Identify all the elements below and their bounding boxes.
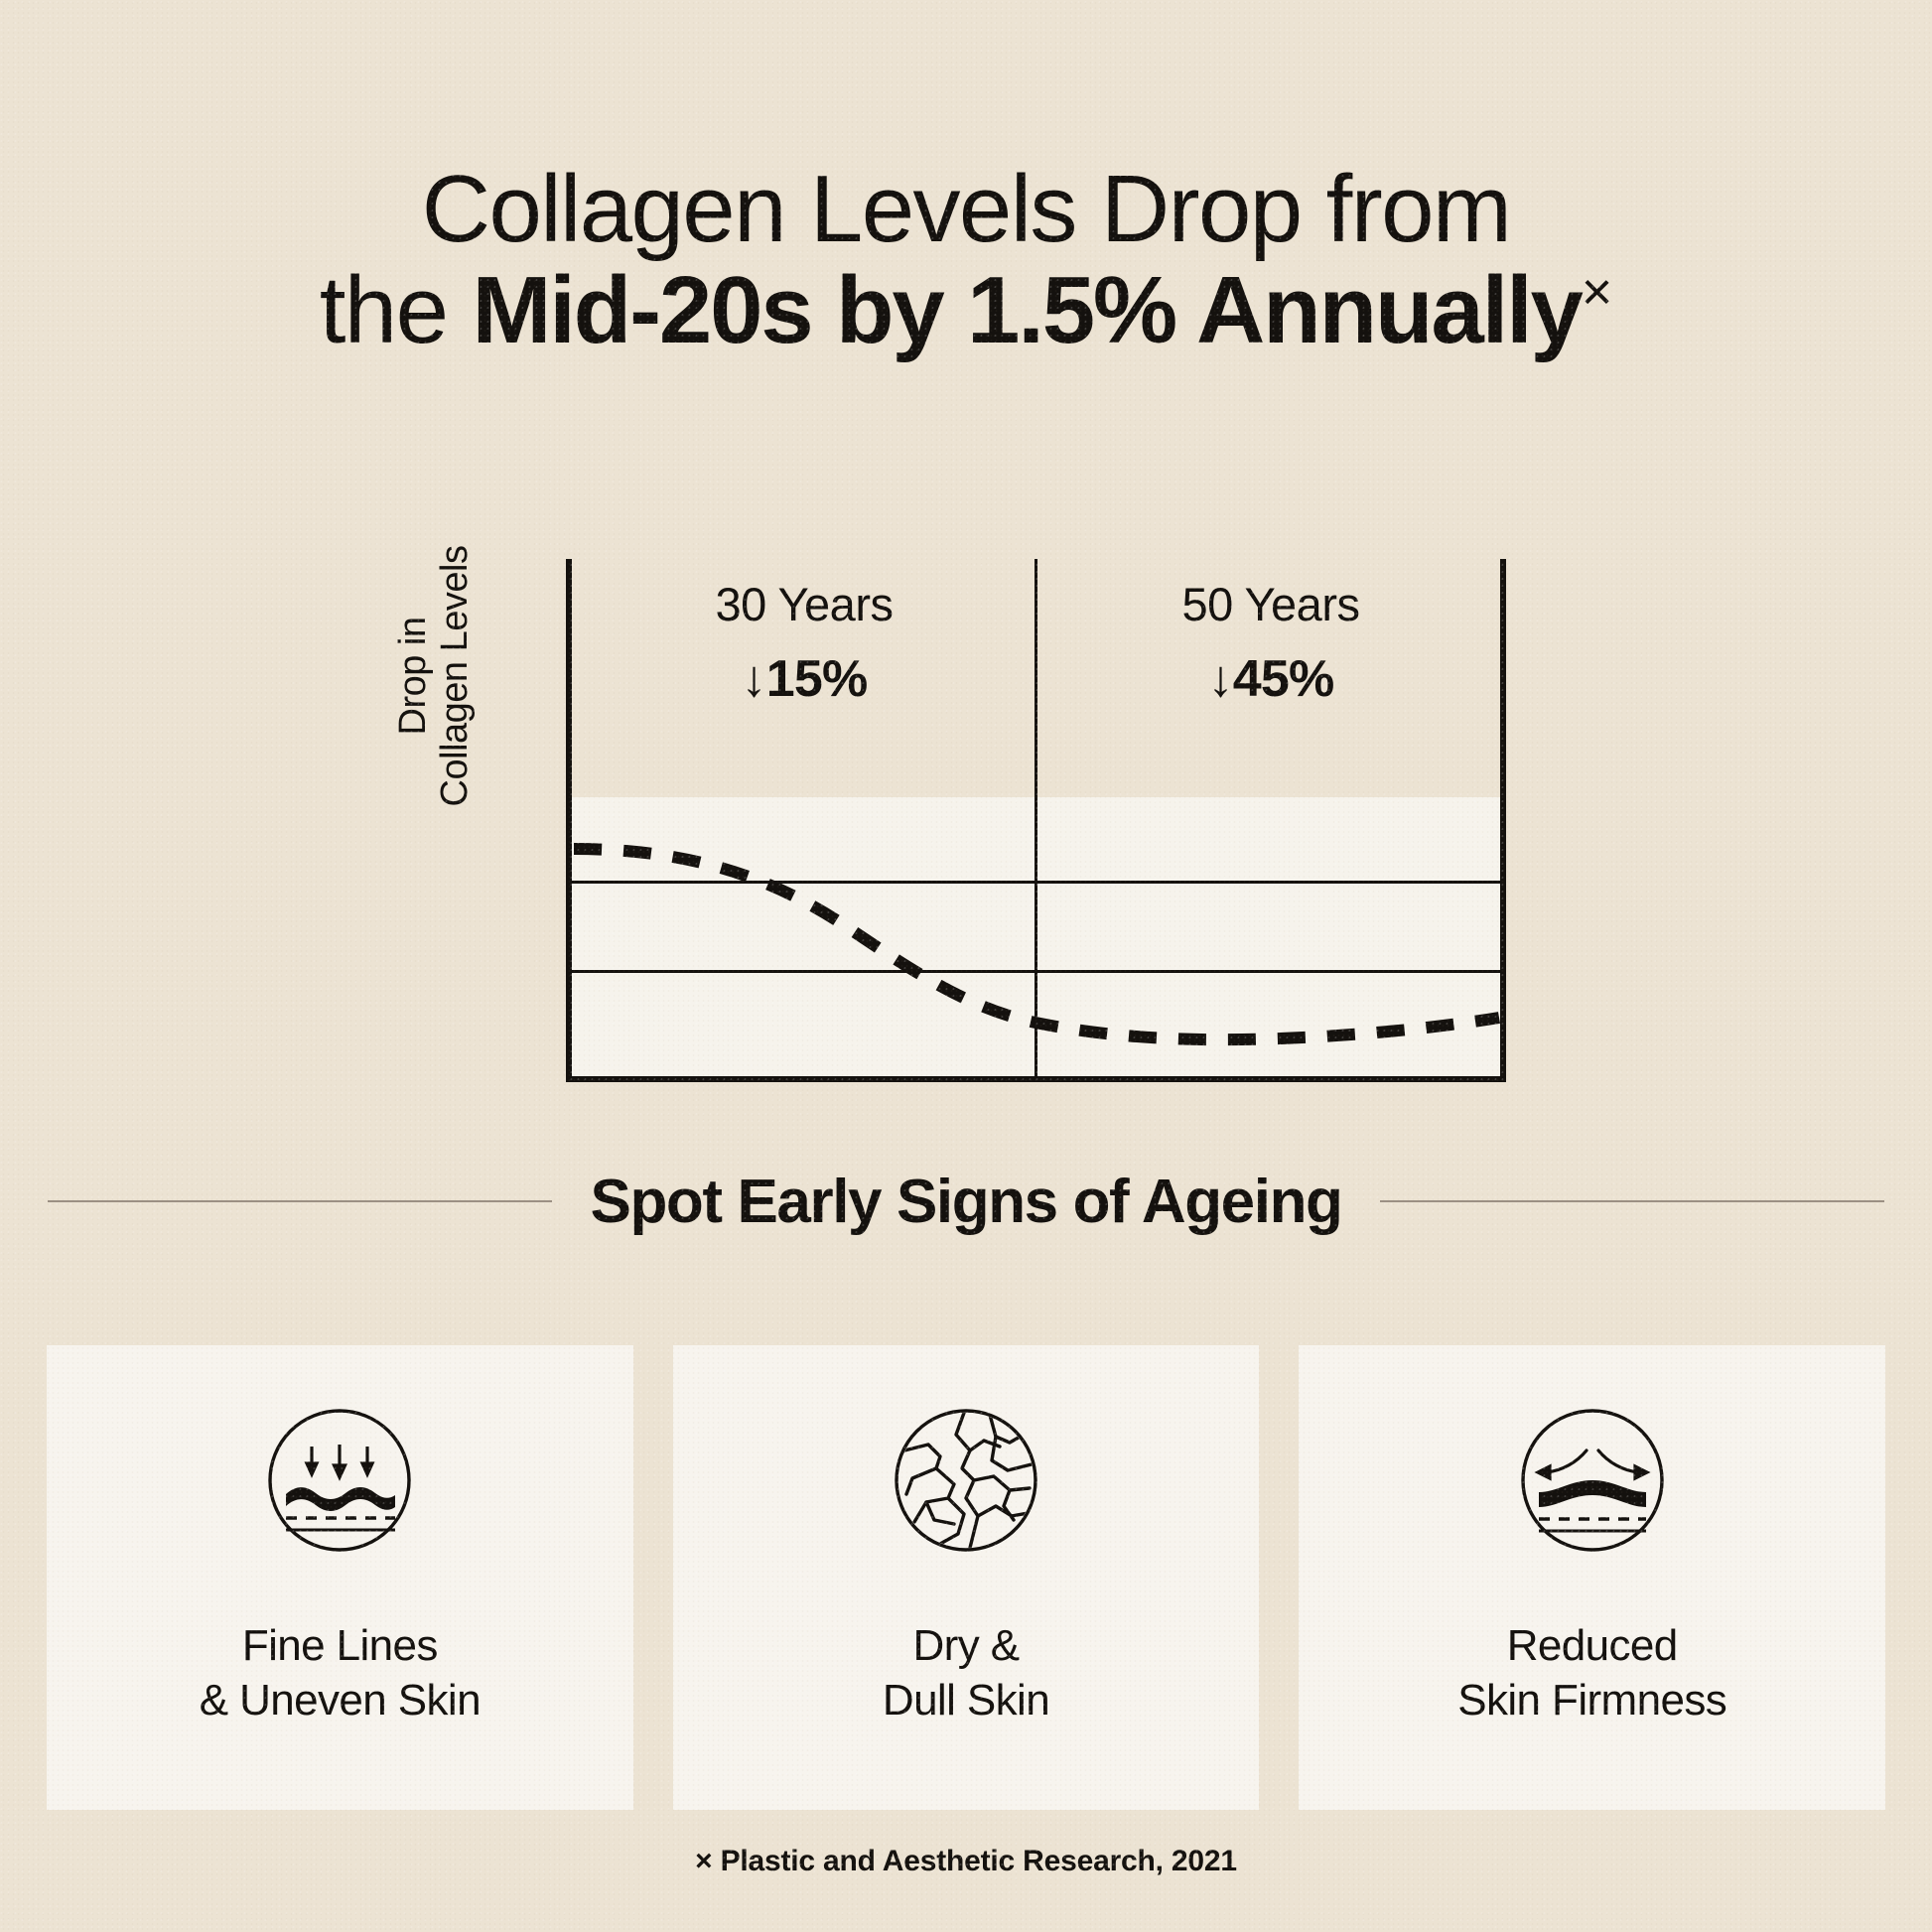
page-title: Collagen Levels Drop from the Mid-20s by…	[0, 159, 1932, 361]
chart-plot-area: 30 Years ↓15% 50 Years ↓45%	[566, 559, 1506, 1082]
chart-annotation-30-years: 30 Years ↓15%	[621, 581, 988, 705]
chart-annotation-50-years-value: 45%	[1233, 650, 1334, 708]
section-header: Spot Early Signs of Ageing	[0, 1147, 1932, 1256]
headline-line-1: Collagen Levels Drop from	[0, 159, 1932, 260]
card-dry-dull-skin[interactable]: Dry & Dull Skin	[673, 1345, 1260, 1810]
card-fine-lines[interactable]: Fine Lines & Uneven Skin	[47, 1345, 633, 1810]
card-reduced-firmness[interactable]: Reduced Skin Firmness	[1299, 1345, 1885, 1810]
dry-dull-skin-icon	[893, 1407, 1039, 1554]
headline-line-2-emphasis: Mid-20s by 1.5% Annually	[472, 257, 1581, 363]
divider-rule-left	[48, 1200, 552, 1202]
down-arrow-icon: ↓	[1208, 650, 1233, 708]
headline-line-2-prefix: the	[320, 257, 473, 363]
early-signs-card-grid: Fine Lines & Uneven Skin Dry & Du	[47, 1345, 1885, 1810]
collagen-decline-chart: Drop in Collagen Levels 30 Years ↓15% 50…	[338, 536, 1598, 1112]
fine-lines-icon	[266, 1407, 413, 1554]
card-fine-lines-label: Fine Lines & Uneven Skin	[200, 1619, 481, 1727]
card-dry-dull-skin-label: Dry & Dull Skin	[883, 1619, 1049, 1727]
section-title: Spot Early Signs of Ageing	[590, 1167, 1341, 1237]
source-footnote: × Plastic and Aesthetic Research, 2021	[0, 1845, 1932, 1878]
card-reduced-firmness-label: Reduced Skin Firmness	[1457, 1619, 1726, 1727]
down-arrow-icon: ↓	[742, 650, 766, 708]
chart-annotation-50-years: 50 Years ↓45%	[1087, 581, 1454, 705]
reduced-firmness-icon	[1519, 1407, 1666, 1554]
chart-annotation-50-years-label: 50 Years	[1087, 581, 1454, 627]
chart-annotation-30-years-value: 15%	[766, 650, 868, 708]
chart-annotation-30-years-percent: ↓15%	[621, 653, 988, 705]
chart-annotation-50-years-percent: ↓45%	[1087, 653, 1454, 705]
chart-annotation-30-years-label: 30 Years	[621, 581, 988, 627]
chart-y-axis-label: Drop in Collagen Levels	[400, 527, 470, 825]
headline-footnote-marker: ×	[1582, 262, 1613, 322]
headline-line-2: the Mid-20s by 1.5% Annually×	[0, 260, 1932, 361]
divider-rule-right	[1380, 1200, 1884, 1202]
